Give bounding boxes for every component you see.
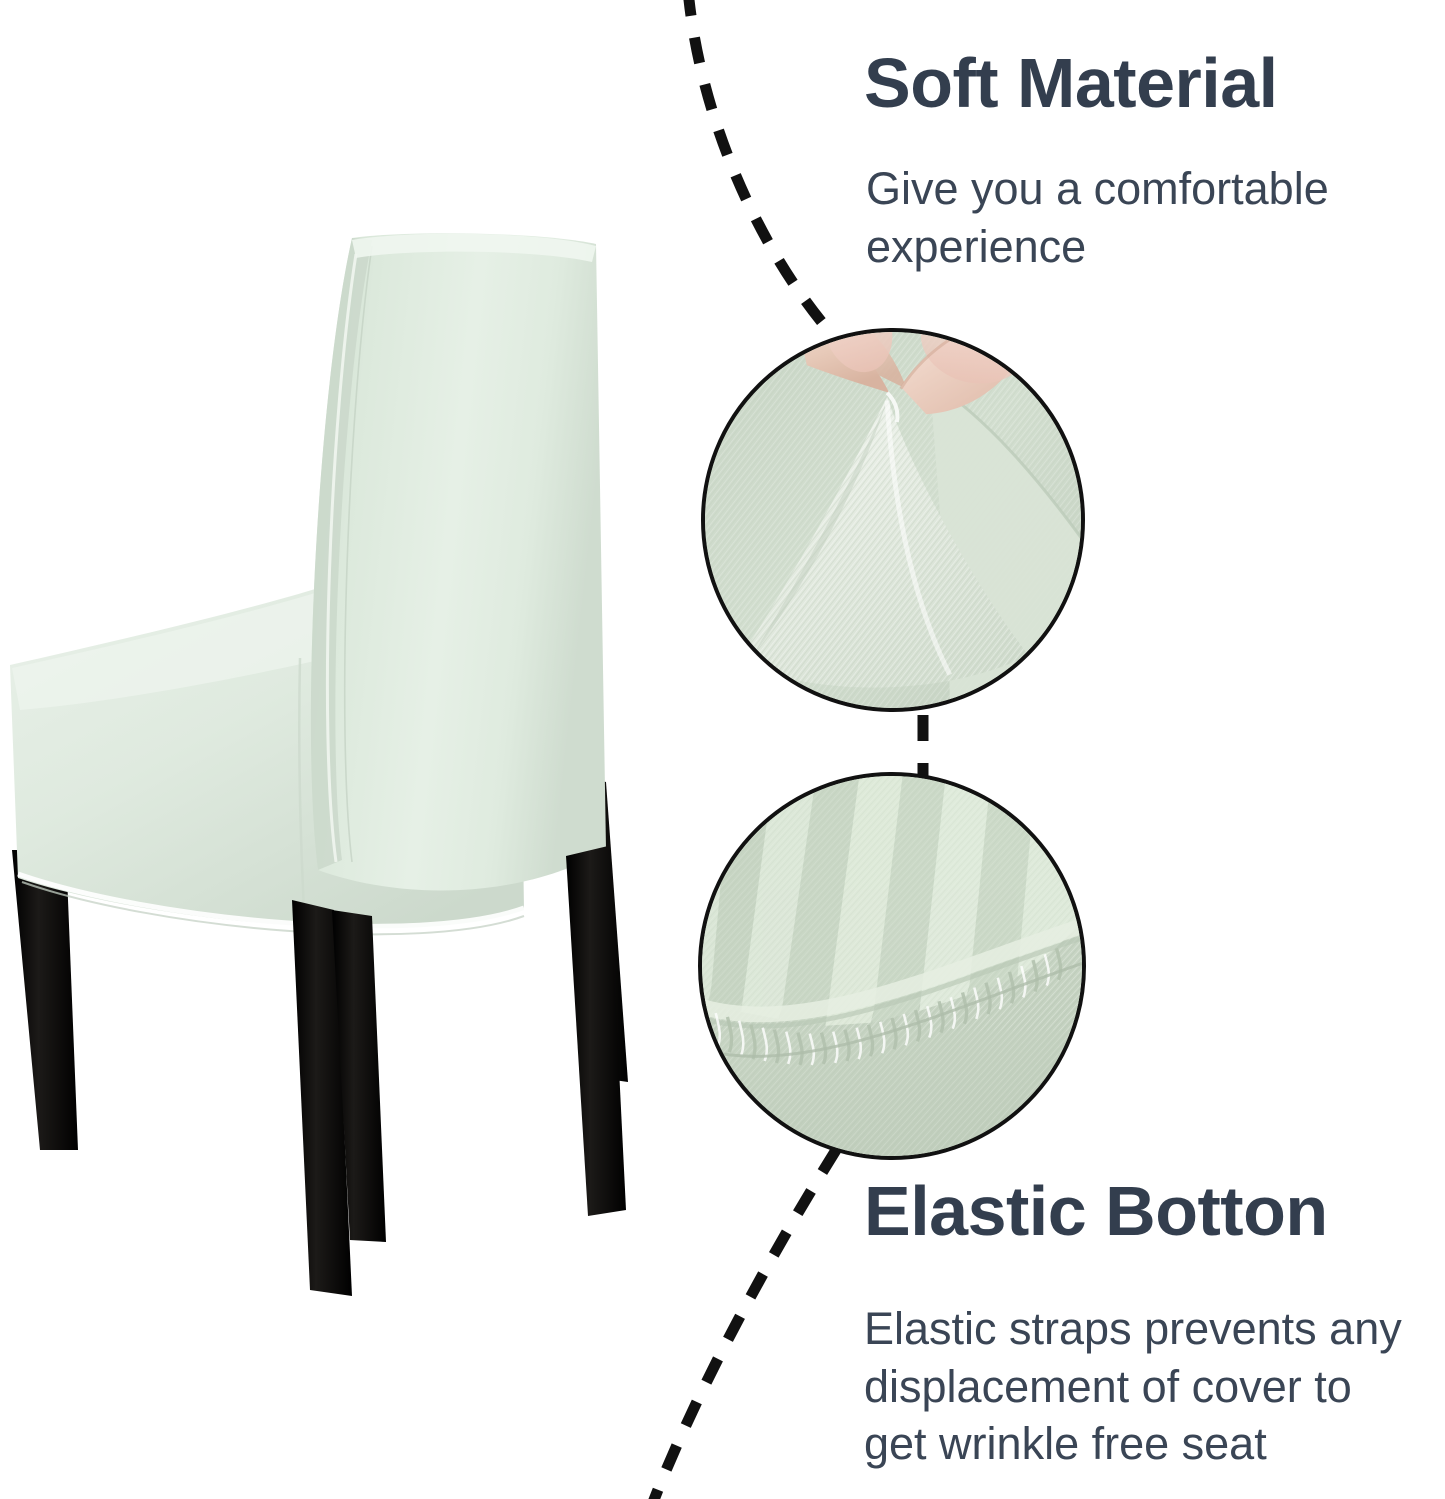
feature-body-line: displacement of cover to (864, 1358, 1444, 1416)
infographic-canvas: Soft Material Give you a comfortable exp… (0, 0, 1445, 1499)
chair-leg-back-left (12, 850, 78, 1150)
pinched-fabric-photo (705, 332, 1081, 708)
feature-title-elastic-botton: Elastic Botton (864, 1176, 1328, 1246)
feature-body-line: experience (866, 218, 1426, 276)
feature-body-line: get wrinkle free seat (864, 1415, 1444, 1473)
feature-body-soft-material: Give you a comfortable experience (866, 160, 1426, 275)
feature-title-soft-material: Soft Material (864, 48, 1278, 118)
callout-elastic-botton-photo (698, 772, 1086, 1160)
callout-soft-material-photo (701, 328, 1085, 712)
elastic-hem-photo (702, 776, 1082, 1156)
feature-body-line: Give you a comfortable (866, 160, 1426, 218)
chair-illustration (0, 210, 670, 1320)
feature-body-elastic-botton: Elastic straps prevents any displacement… (864, 1300, 1444, 1473)
feature-body-line: Elastic straps prevents any (864, 1300, 1444, 1358)
chair-leg-front-left (292, 900, 386, 1296)
chair-leg-front-right (566, 846, 626, 1216)
chair-product-image (0, 210, 670, 1320)
